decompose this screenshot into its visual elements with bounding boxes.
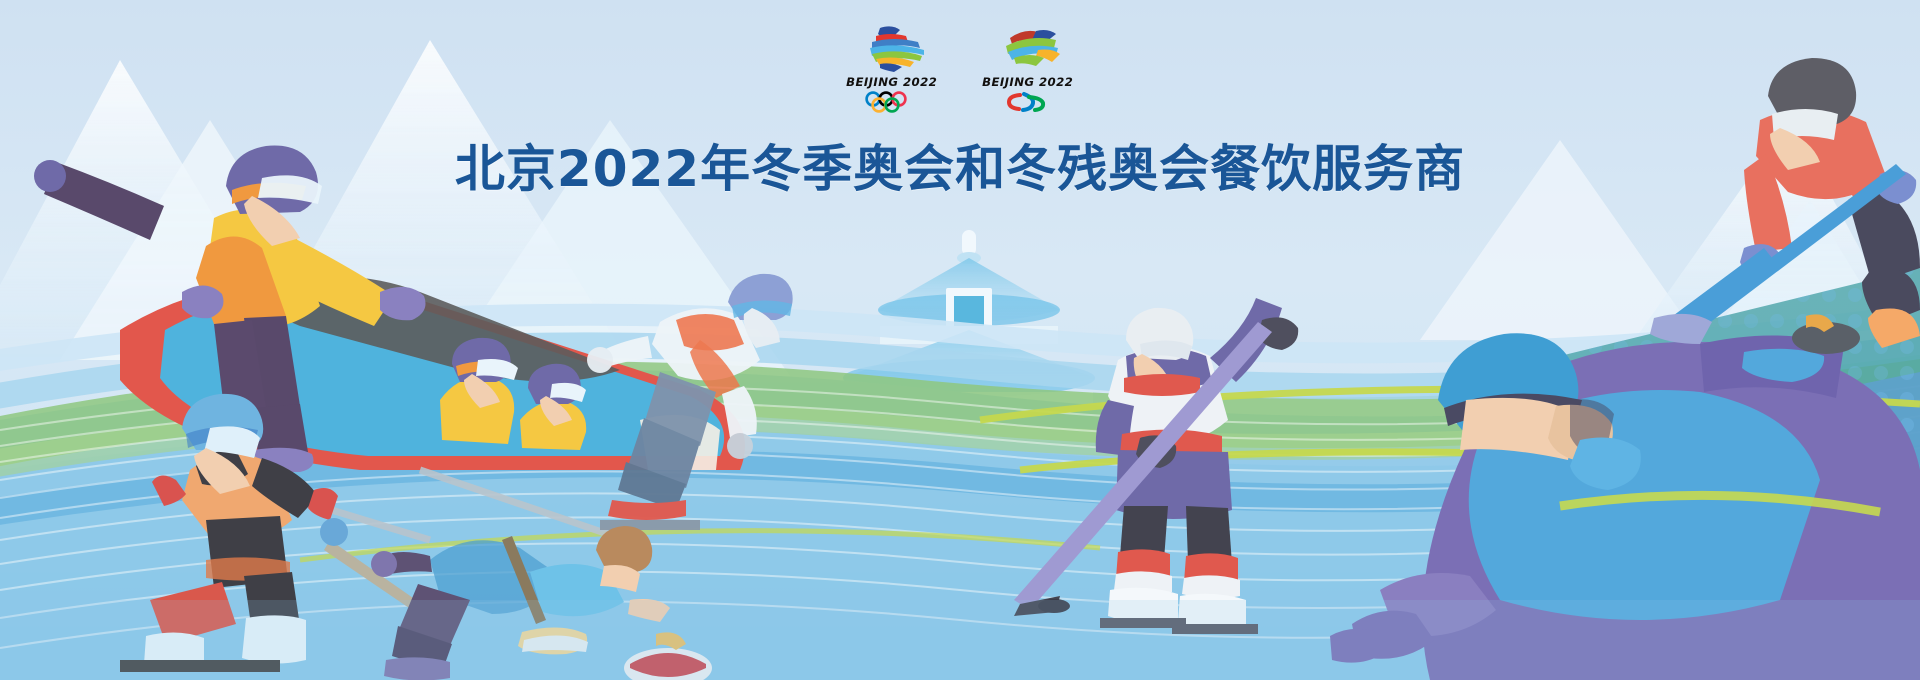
page-title: 北京2022年冬季奥会和冬残奥会餐饮服务商 — [455, 129, 1465, 201]
olympic-emblem-mark — [846, 22, 938, 74]
beijing-2022-olympic-emblem[interactable]: BEIJING 2022 — [846, 22, 938, 113]
olympic-rings-icon — [857, 91, 927, 113]
paralympic-wordmark: BEIJING 2022 — [982, 75, 1073, 89]
beijing-2022-catering-banner: BEIJING 2022 — [0, 0, 1920, 680]
emblem-group: BEIJING 2022 — [846, 22, 1074, 113]
paralympic-emblem-mark — [982, 22, 1074, 74]
olympic-wordmark: BEIJING 2022 — [846, 75, 937, 89]
beijing-2022-paralympic-emblem[interactable]: BEIJING 2022 — [982, 22, 1074, 113]
agitos-icon — [993, 91, 1063, 113]
